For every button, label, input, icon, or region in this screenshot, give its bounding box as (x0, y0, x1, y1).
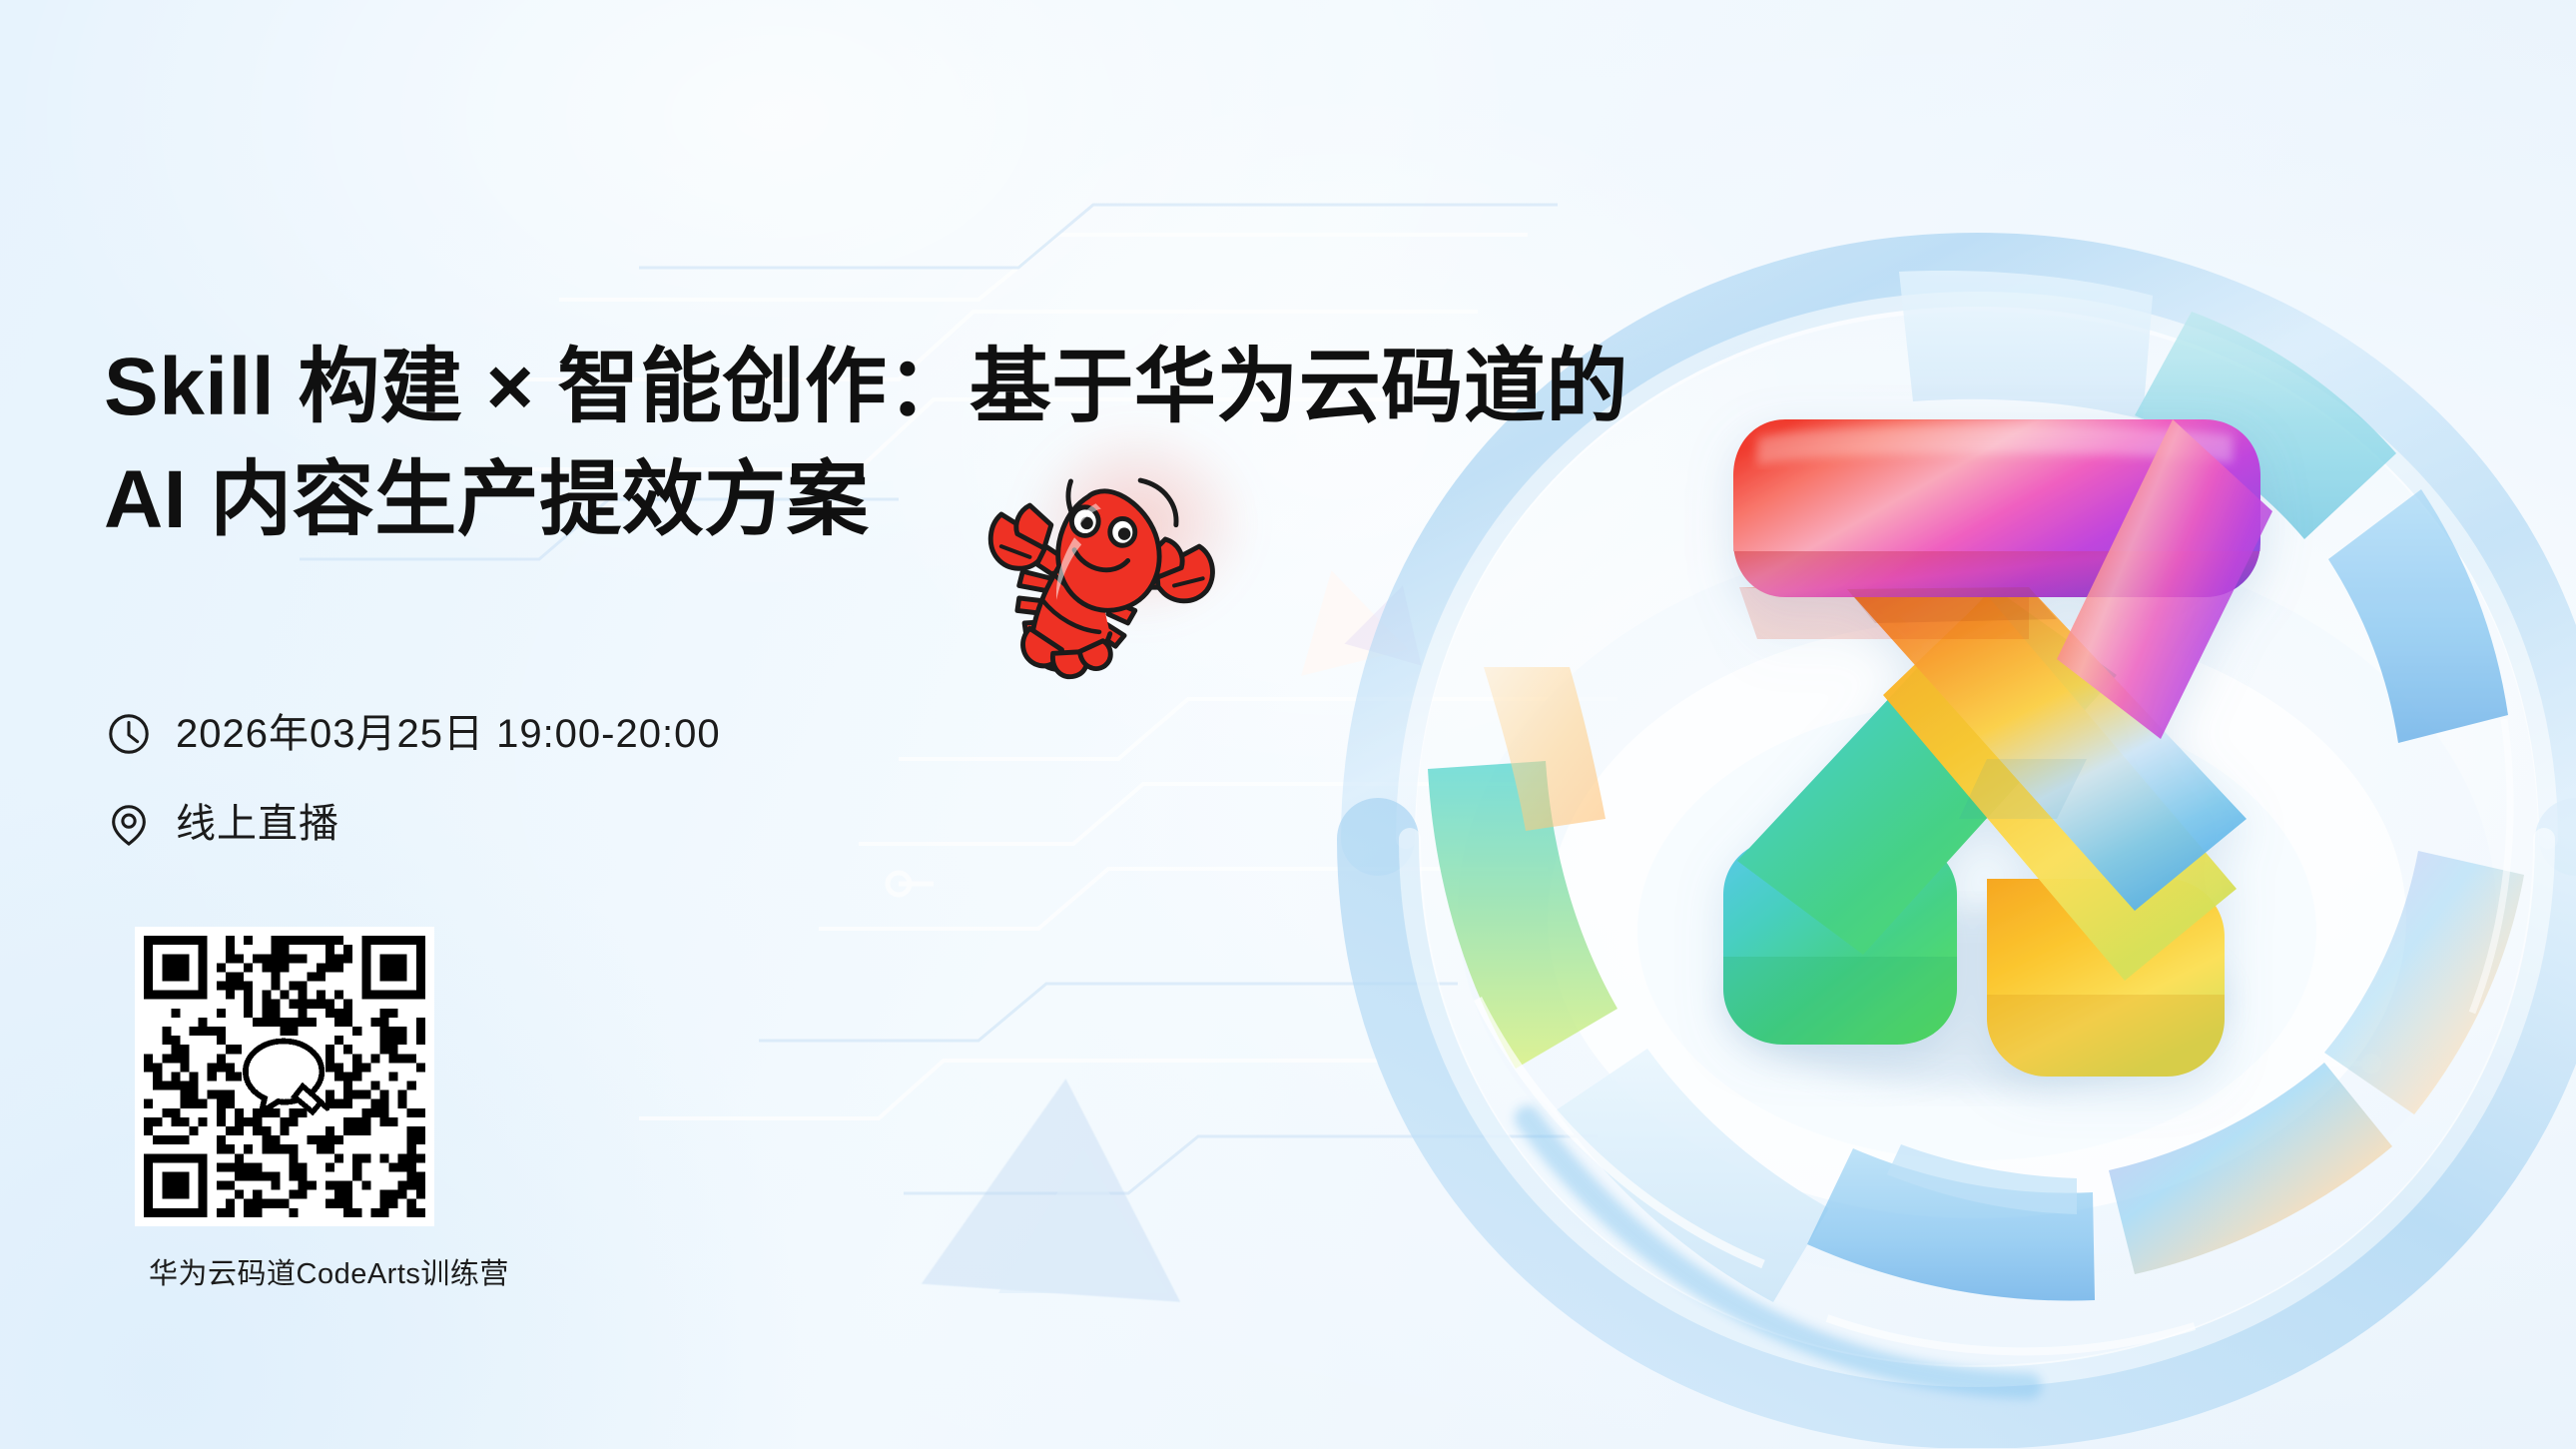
title-line-2: AI 内容生产提效方案 (104, 443, 1222, 556)
qr-code-block: 华为云码道CodeArts训练营 (135, 927, 434, 1292)
event-date-text: 2026年03月25日 19:00-20:00 (176, 714, 721, 754)
qr-code-caption: 华为云码道CodeArts训练营 (149, 1250, 448, 1292)
event-poster: Skill 构建 × 智能创作：基于华为云码道的 AI 内容生产提效方案 202… (0, 0, 2576, 1449)
page-title: Skill 构建 × 智能创作：基于华为云码道的 AI 内容生产提效方案 (104, 331, 1222, 556)
event-date-row: 2026年03月25日 19:00-20:00 (106, 711, 721, 757)
location-pin-icon (106, 801, 152, 847)
event-location-row: 线上直播 (106, 801, 339, 847)
codearts-3d-ribbon-ring-graphic (1288, 120, 2576, 1448)
clock-icon (106, 711, 152, 757)
event-location-text: 线上直播 (176, 804, 339, 844)
qr-code-image[interactable] (135, 927, 434, 1226)
title-line-1: Skill 构建 × 智能创作：基于华为云码道的 (104, 331, 1222, 443)
